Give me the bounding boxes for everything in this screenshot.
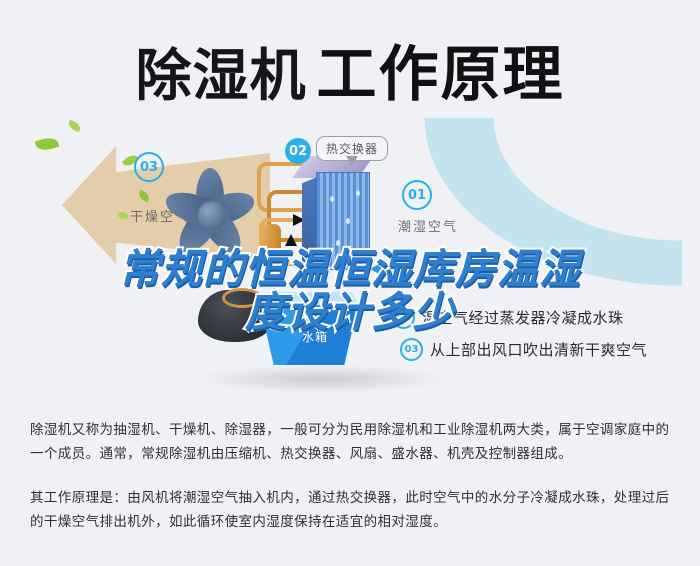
leaf-icon (35, 135, 60, 153)
legend-item-03: 03 从上部出风口吹出清新干爽空气 (400, 338, 647, 361)
legend-text-02: 湿空气经过蒸发器冷凝成水珠 (422, 307, 624, 328)
step-badge-03: 03 (134, 152, 164, 182)
legend-badge-03: 03 (400, 338, 423, 361)
page-title: 除湿机工作原理 (0, 26, 700, 113)
title-part-working-principle: 工作原理 (317, 41, 565, 108)
callout-pointer-icon (346, 156, 358, 166)
step-badge-01: 01 (402, 180, 432, 210)
title-part-dehumidifier: 除湿机 (136, 44, 307, 109)
compressor-ring-icon (222, 288, 262, 308)
air-intake-arrow-tail-icon (384, 265, 410, 274)
legend-item-02: 02 湿空气经过蒸发器冷凝成水珠 (392, 306, 624, 329)
step-badge-02: 02 (285, 138, 311, 164)
page-root: 除湿机工作原理 干燥空气 (0, 0, 700, 566)
heat-exchanger-icon (300, 156, 376, 276)
legend-badge-02: 02 (392, 306, 415, 329)
humid-air-label: 潮湿空气 (398, 216, 458, 235)
legend-text-03: 从上部出风口吹出清新干爽空气 (430, 339, 647, 360)
water-tank-label: 水箱 (302, 328, 328, 345)
water-tank-icon: 水箱 (258, 292, 360, 366)
machine-shadow (196, 365, 446, 393)
fan-icon (158, 162, 262, 266)
leaf-icon (67, 120, 82, 133)
body-paragraph-1: 除湿机又称为抽湿机、干燥机、除湿器，一般可分为民用除湿机和工业除湿机两大类，属于… (30, 418, 675, 466)
body-paragraph-2: 其工作原理是：由风机将潮湿空气抽入机内，通过热交换器，此时空气中的水分子冷凝成水… (30, 486, 675, 534)
